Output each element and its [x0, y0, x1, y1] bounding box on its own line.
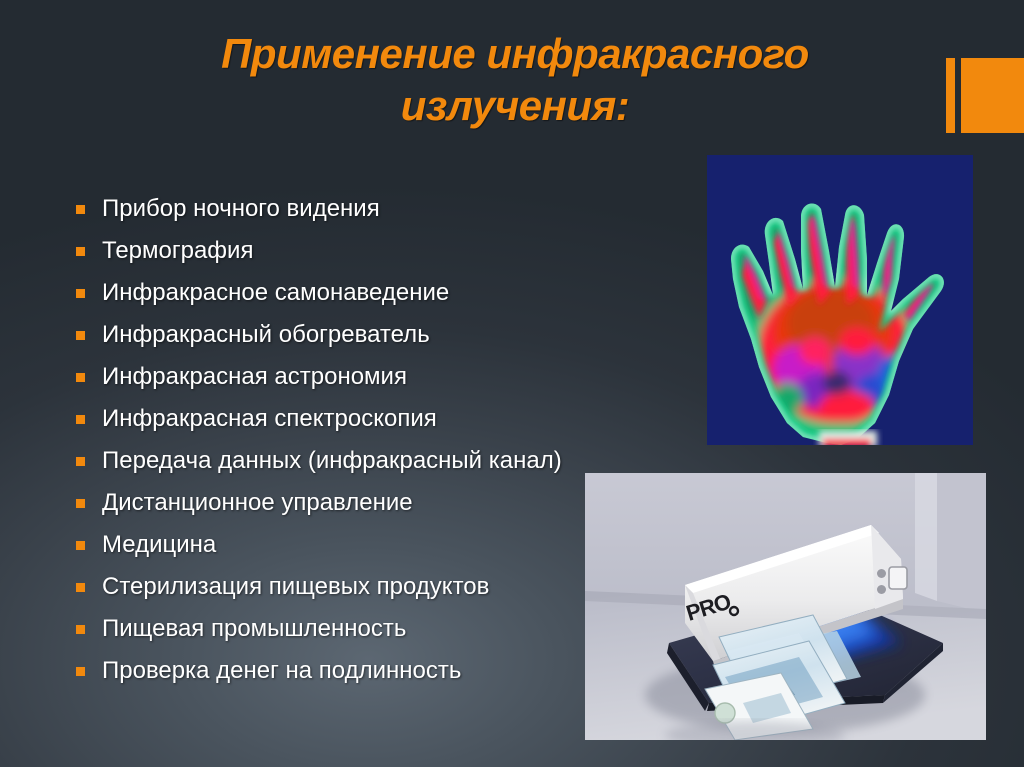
square-bullet-icon [76, 415, 85, 424]
orange-wide-bar-decoration [961, 58, 1024, 133]
list-item: Термография [72, 230, 672, 272]
orange-thin-bar-decoration [946, 58, 955, 133]
square-bullet-icon [76, 373, 85, 382]
list-item: Стерилизация пищевых продуктов [72, 566, 672, 608]
square-bullet-icon [76, 247, 85, 256]
uv-money-detector-photo: PRO 1000 [585, 473, 986, 740]
list-item-label: Дистанционное управление [102, 489, 413, 516]
slide-canvas: Применение инфракрасного излучения: Приб… [0, 0, 1024, 767]
square-bullet-icon [76, 205, 85, 214]
list-item-label: Инфракрасная спектроскопия [102, 405, 437, 432]
list-item-label: Проверка денег на подлинность [102, 657, 461, 684]
list-item-label: Медицина [102, 531, 216, 558]
list-item-label: Пищевая промышленность [102, 615, 406, 642]
applications-bullet-list: Прибор ночного видения Термография Инфра… [72, 188, 672, 692]
list-item-label: Стерилизация пищевых продуктов [102, 573, 489, 600]
slide-title: Применение инфракрасного излучения: [110, 28, 920, 132]
list-item-label: Прибор ночного видения [102, 195, 380, 222]
square-bullet-icon [76, 457, 85, 466]
square-bullet-icon [76, 625, 85, 634]
list-item: Инфракрасная астрономия [72, 356, 672, 398]
square-bullet-icon [76, 667, 85, 676]
list-item: Проверка денег на подлинность [72, 650, 672, 692]
square-bullet-icon [76, 499, 85, 508]
square-bullet-icon [76, 583, 85, 592]
square-bullet-icon [76, 289, 85, 298]
list-item: Дистанционное управление [72, 482, 672, 524]
list-item-label: Инфракрасная астрономия [102, 363, 407, 390]
list-item-label: Термография [102, 237, 253, 264]
square-bullet-icon [76, 331, 85, 340]
title-line-1: Применение инфракрасного [110, 28, 920, 80]
list-item: Передача данных (инфракрасный канал) [72, 440, 672, 482]
list-item: Медицина [72, 524, 672, 566]
square-bullet-icon [76, 541, 85, 550]
list-item-label: Инфракрасное самонаведение [102, 279, 449, 306]
list-item: Инфракрасная спектроскопия [72, 398, 672, 440]
list-item: Инфракрасный обогреватель [72, 314, 672, 356]
list-item: Прибор ночного видения [72, 188, 672, 230]
list-item-label: Инфракрасный обогреватель [102, 321, 430, 348]
title-line-2: излучения: [110, 80, 920, 132]
list-item: Пищевая промышленность [72, 608, 672, 650]
thermal-hand-image [707, 155, 973, 445]
list-item: Инфракрасное самонаведение [72, 272, 672, 314]
list-item-label: Передача данных (инфракрасный канал) [102, 447, 562, 474]
